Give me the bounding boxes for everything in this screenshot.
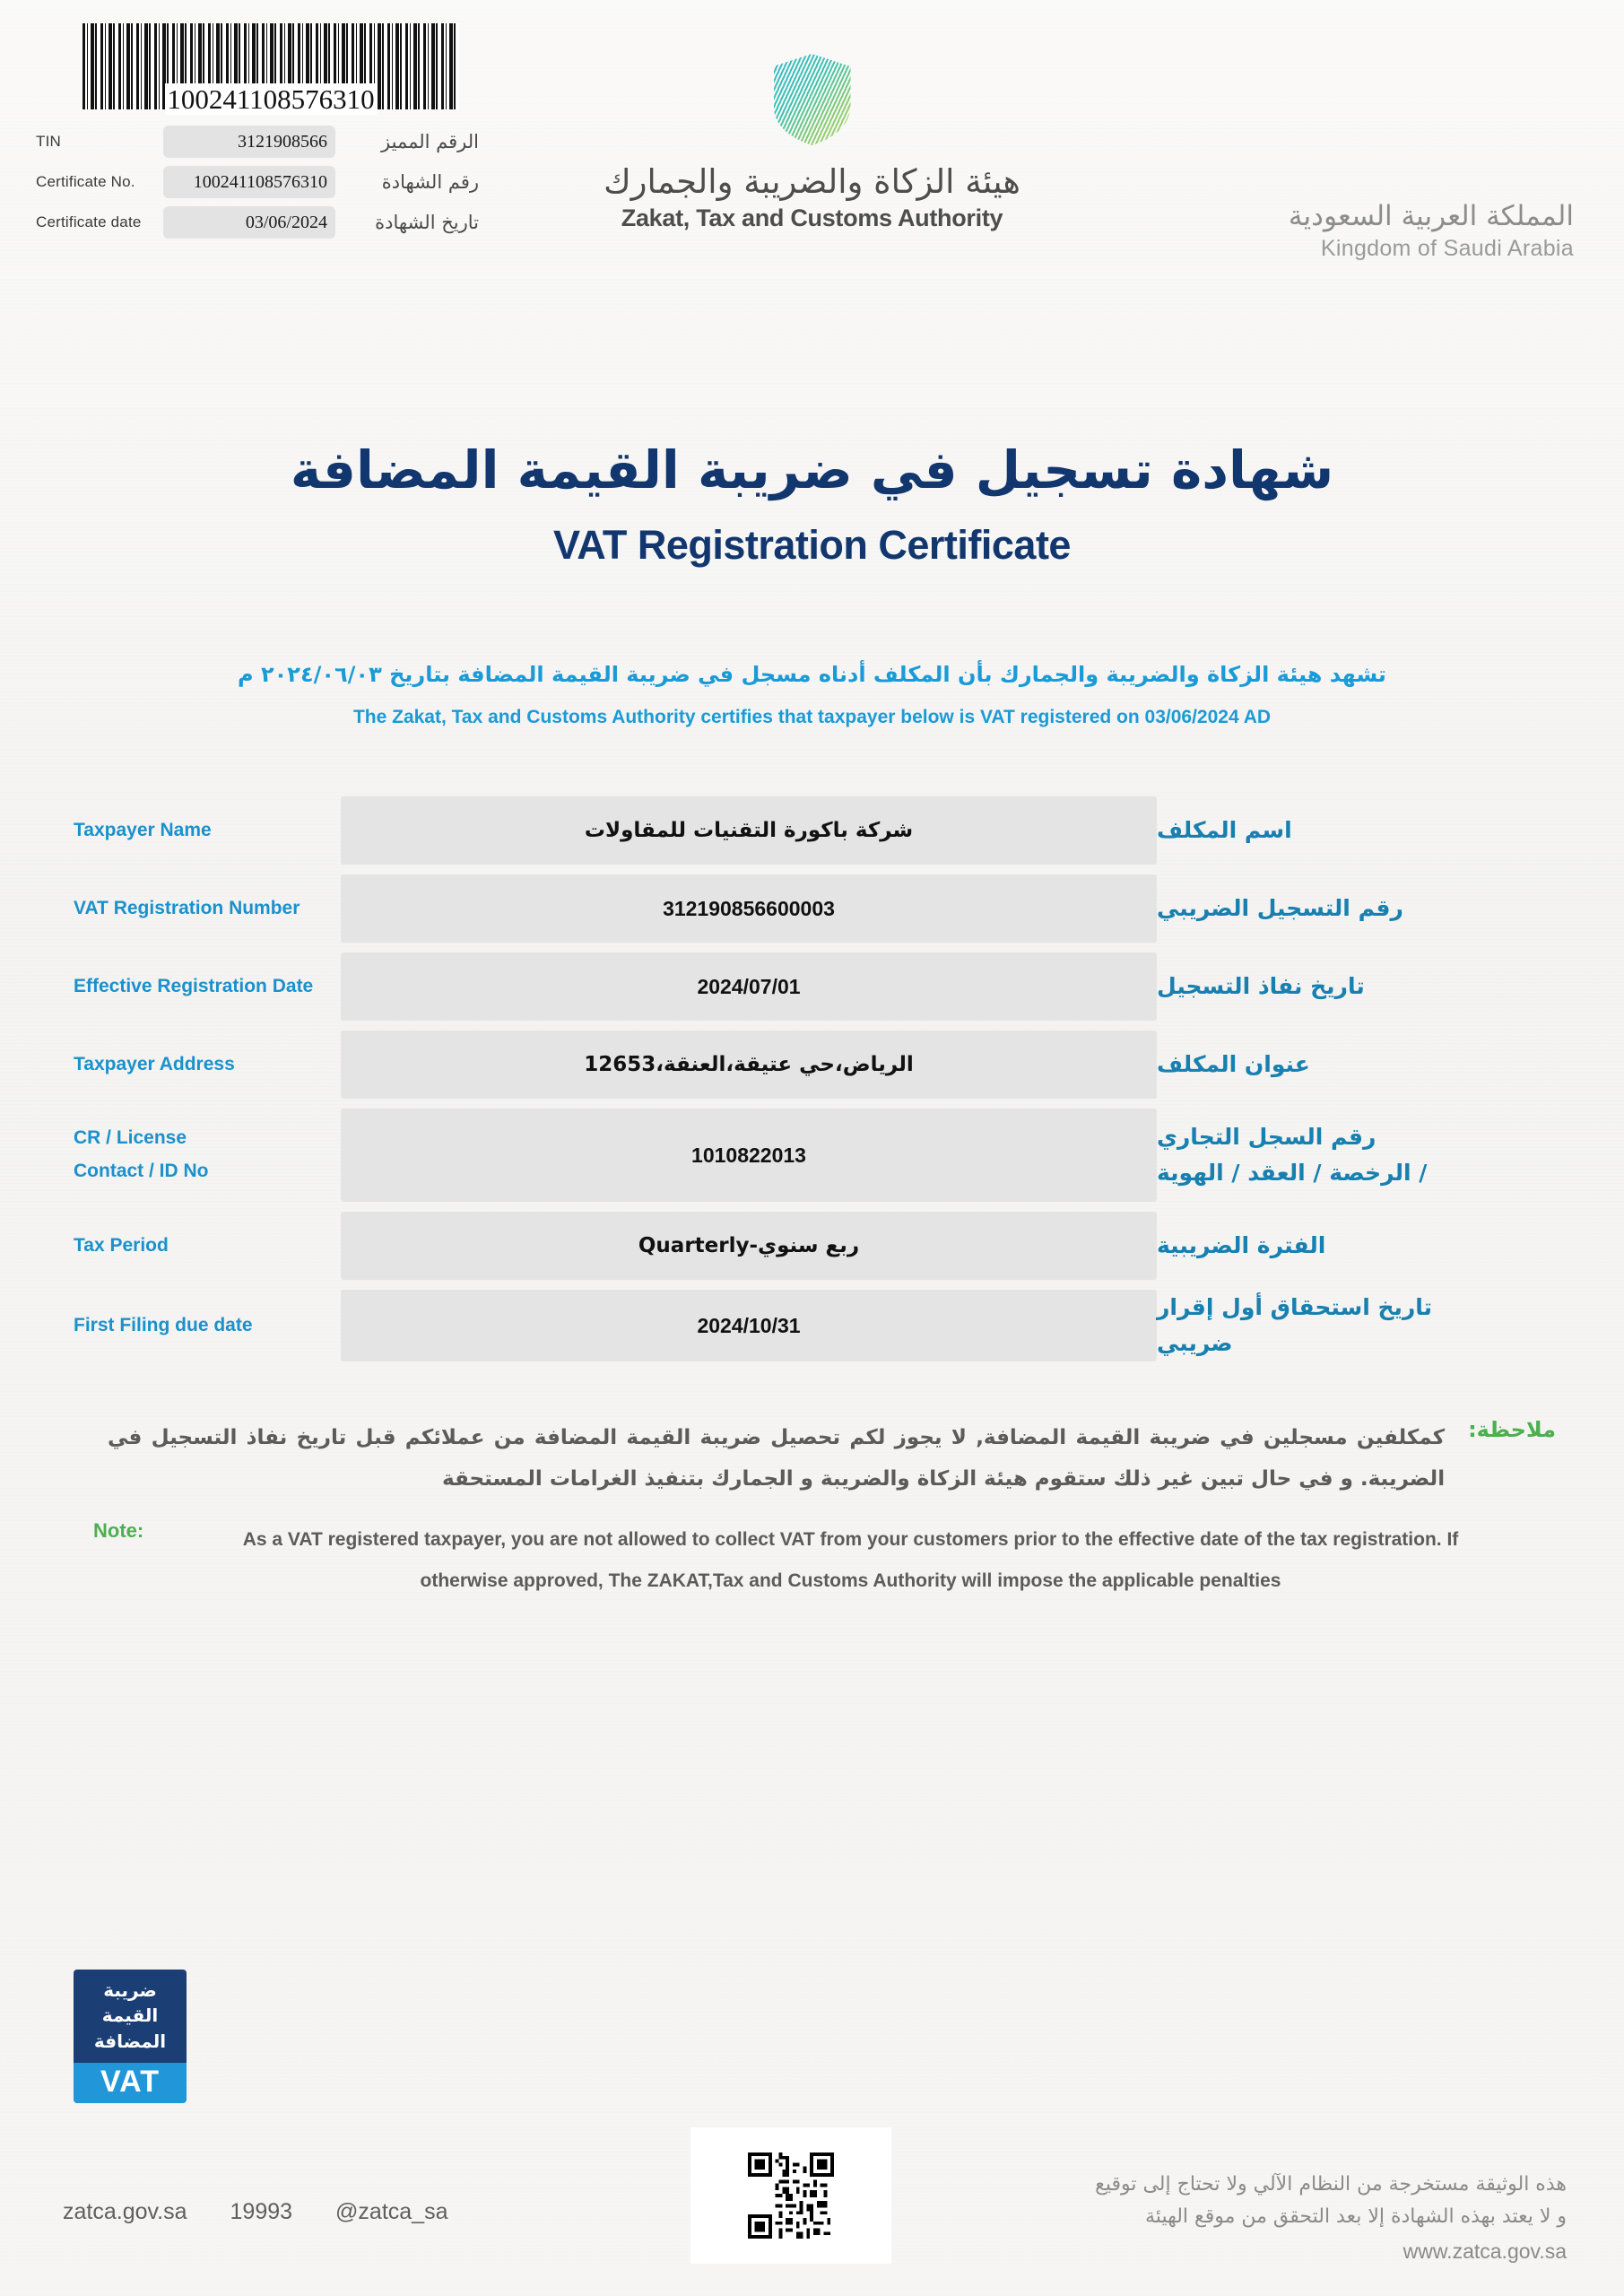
row-label-ar: عنوان المكلف — [1157, 1031, 1624, 1099]
qr-code-container — [690, 2127, 891, 2264]
certificate-no-label-en: Certificate No. — [36, 173, 163, 191]
row-label-en-line1: First Filing due date — [74, 1309, 341, 1343]
footer-disclaimer: هذه الوثيقة مستخرجة من النظام الآلي ولا … — [1095, 2169, 1567, 2269]
row-label-ar: تاريخ استحقاق أول إقرار ضريبي — [1157, 1290, 1624, 1361]
row-label-en: Effective Registration Date — [0, 952, 341, 1021]
row-value: الرياض،حي عتيقة،العنقة،12653 — [341, 1031, 1157, 1099]
row-label-ar: الفترة الضريبية — [1157, 1212, 1624, 1280]
barcode: 100241108576310 — [83, 23, 459, 109]
table-row: Taxpayer Name شركة باكورة التقنيات للمقا… — [0, 796, 1624, 865]
row-label-ar-line1: اسم المكلف — [1157, 813, 1292, 848]
footer-social-handle[interactable]: @zatca_sa — [335, 2199, 447, 2225]
footer-disclaimer-line2: و لا يعتد بهذه الشهادة إلا بعد التحقق من… — [1095, 2201, 1567, 2233]
row-label-ar-line1: تاريخ استحقاق أول إقرار — [1157, 1290, 1432, 1326]
row-value: شركة باكورة التقنيات للمقاولات — [341, 796, 1157, 865]
vat-logo: ضريبة القيمة المضافة VAT — [74, 1970, 187, 2103]
header-row-certificate-no: Certificate No. 100241108576310 رقم الشه… — [36, 166, 538, 198]
row-label-en-line1: CR / License — [74, 1122, 341, 1155]
row-label-ar: رقم التسجيل الضريبي — [1157, 874, 1624, 943]
kingdom-name-ar: المملكة العربية السعودية — [1289, 199, 1574, 234]
row-label-ar-line1: الفترة الضريبية — [1157, 1228, 1325, 1264]
page-title: شهادة تسجيل في ضريبة القيمة المضافة VAT … — [0, 439, 1624, 569]
note-english: Note: As a VAT registered taxpayer, you … — [93, 1519, 1498, 1602]
certificate-page: 100241108576310 TIN 3121908566 الرقم الم… — [0, 0, 1624, 2296]
row-label-en: Tax Period — [0, 1212, 341, 1280]
row-label-en: VAT Registration Number — [0, 874, 341, 943]
vat-logo-line3: المضافة — [79, 2029, 181, 2054]
row-label-ar-line1: رقم السجل التجاري — [1157, 1119, 1376, 1155]
tin-value: 3121908566 — [163, 126, 335, 158]
note-text-ar: كمكلفين مسجلين في ضريبة القيمة المضافة, … — [108, 1417, 1445, 1500]
certificate-no-label-ar: رقم الشهادة — [335, 171, 486, 193]
barcode-number-text: 100241108576310 — [165, 83, 376, 115]
row-label-ar-line1: تاريخ نفاذ التسجيل — [1157, 969, 1365, 1004]
row-label-ar-line1: رقم التسجيل الضريبي — [1157, 891, 1403, 926]
footer-website[interactable]: zatca.gov.sa — [63, 2199, 187, 2225]
page-title-ar: شهادة تسجيل في ضريبة القيمة المضافة — [0, 439, 1624, 502]
vat-logo-line2: القيمة — [79, 2003, 181, 2028]
note-text-en: As a VAT registered taxpayer, you are no… — [203, 1519, 1498, 1602]
kingdom-block: المملكة العربية السعودية Kingdom of Saud… — [1289, 199, 1574, 262]
certificate-no-value: 100241108576310 — [163, 166, 335, 198]
row-label-ar: اسم المكلف — [1157, 796, 1624, 865]
row-label-en-line1: Taxpayer Address — [74, 1048, 341, 1082]
row-label-ar-line2: / الرخصة / العقد / الهوية — [1157, 1155, 1427, 1191]
footer-disclaimer-url[interactable]: www.zatca.gov.sa — [1095, 2235, 1567, 2268]
table-row: VAT Registration Number 312190856600003 … — [0, 874, 1624, 943]
row-label-en: Taxpayer Name — [0, 796, 341, 865]
vat-logo-mark: VAT — [74, 2063, 187, 2103]
header-field-rows: TIN 3121908566 الرقم المميز Certificate … — [36, 126, 538, 239]
row-label-en-line1: Effective Registration Date — [74, 970, 341, 1004]
vat-logo-arabic: ضريبة القيمة المضافة — [74, 1970, 187, 2063]
zatca-brand-block: هيئة الزكاة والضريبة والجمارك Zakat, Tax… — [525, 54, 1099, 232]
row-value: ربع سنوي-Quarterly — [341, 1212, 1157, 1280]
certificate-date-label-ar: تاريخ الشهادة — [335, 212, 486, 233]
certification-statement: تشهد هيئة الزكاة والضريبة والجمارك بأن ا… — [0, 662, 1624, 728]
header-row-tin: TIN 3121908566 الرقم المميز — [36, 126, 538, 158]
row-value: 1010822013 — [341, 1109, 1157, 1202]
row-label-ar-line1: عنوان المكلف — [1157, 1047, 1310, 1083]
table-row: CR / License Contact / ID No 1010822013 … — [0, 1109, 1624, 1202]
certificate-date-label-en: Certificate date — [36, 213, 163, 231]
row-label-en-line1: VAT Registration Number — [74, 892, 341, 926]
row-value: 2024/10/31 — [341, 1290, 1157, 1361]
row-label-en: Taxpayer Address — [0, 1031, 341, 1099]
row-value: 2024/07/01 — [341, 952, 1157, 1021]
kingdom-name-en: Kingdom of Saudi Arabia — [1289, 236, 1574, 262]
table-row: Tax Period ربع سنوي-Quarterly الفترة الض… — [0, 1212, 1624, 1280]
row-label-ar: رقم السجل التجاري / الرخصة / العقد / اله… — [1157, 1109, 1624, 1202]
row-label-ar: تاريخ نفاذ التسجيل — [1157, 952, 1624, 1021]
certification-statement-en: The Zakat, Tax and Customs Authority cer… — [0, 707, 1624, 728]
page-title-en: VAT Registration Certificate — [0, 522, 1624, 569]
authority-name-en: Zakat, Tax and Customs Authority — [525, 204, 1099, 232]
row-label-en-line1: Taxpayer Name — [74, 814, 341, 848]
row-label-en-line2: Contact / ID No — [74, 1155, 341, 1188]
tin-label-en: TIN — [36, 133, 163, 151]
header-left-block: 100241108576310 TIN 3121908566 الرقم الم… — [36, 23, 538, 247]
table-row: Effective Registration Date 2024/07/01 ت… — [0, 952, 1624, 1021]
note-label-ar: ملاحظة: — [1445, 1417, 1556, 1442]
certificate-details-table: Taxpayer Name شركة باكورة التقنيات للمقا… — [0, 796, 1624, 1371]
header-row-certificate-date: Certificate date 03/06/2024 تاريخ الشهاد… — [36, 206, 538, 239]
note-label-en: Note: — [93, 1519, 203, 1543]
row-label-ar-line2: ضريبي — [1157, 1326, 1233, 1361]
certificate-date-value: 03/06/2024 — [163, 206, 335, 239]
qr-code-icon — [748, 2152, 834, 2239]
footer-phone: 19993 — [230, 2199, 293, 2225]
footer-disclaimer-line1: هذه الوثيقة مستخرجة من النظام الآلي ولا … — [1095, 2169, 1567, 2201]
row-label-en: First Filing due date — [0, 1290, 341, 1361]
certification-statement-ar: تشهد هيئة الزكاة والضريبة والجمارك بأن ا… — [0, 662, 1624, 687]
row-label-en: CR / License Contact / ID No — [0, 1109, 341, 1202]
shield-icon — [774, 54, 851, 145]
vat-logo-line1: ضريبة — [79, 1978, 181, 2003]
table-row: First Filing due date 2024/10/31 تاريخ ا… — [0, 1290, 1624, 1361]
note-arabic: ملاحظة: كمكلفين مسجلين في ضريبة القيمة ا… — [108, 1417, 1556, 1500]
tin-label-ar: الرقم المميز — [335, 131, 486, 152]
table-row: Taxpayer Address الرياض،حي عتيقة،العنقة،… — [0, 1031, 1624, 1099]
authority-name-ar: هيئة الزكاة والضريبة والجمارك — [525, 163, 1099, 202]
barcode-number: 100241108576310 — [83, 85, 459, 113]
row-value: 312190856600003 — [341, 874, 1157, 943]
row-label-en-line1: Tax Period — [74, 1230, 341, 1263]
footer-contacts: zatca.gov.sa 19993 @zatca_sa — [63, 2199, 448, 2225]
